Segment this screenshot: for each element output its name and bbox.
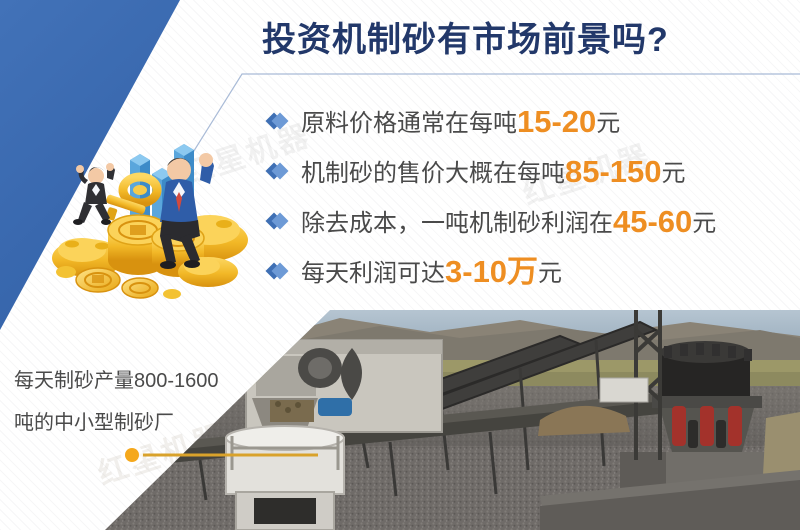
caption-connector [118, 444, 318, 466]
list-item: 除去成本，一吨机制砂利润在45-60元 [268, 196, 778, 246]
blue-diamond-icon [268, 113, 285, 130]
list-item-highlight: 3-10万 [445, 254, 538, 289]
list-item-prefix: 每天利润可达 [301, 260, 445, 287]
list-item-text: 机制砂的售价大概在每吨85-150元 [301, 156, 686, 187]
list-item: 原料价格通常在每吨15-20元 [268, 96, 778, 146]
list-item: 每天利润可达3-10万元 [268, 246, 778, 296]
list-item-text: 每天利润可达3-10万元 [301, 256, 562, 287]
list-item-text: 原料价格通常在每吨15-20元 [301, 106, 620, 137]
caption-block: 每天制砂产量800-1600 吨的中小型制砂厂 [14, 360, 274, 444]
list-item-prefix: 原料价格通常在每吨 [301, 110, 517, 137]
list-item-text: 除去成本，一吨机制砂利润在45-60元 [301, 206, 716, 237]
list-item-highlight: 85-150 [565, 154, 662, 189]
businessman-celebrating [73, 163, 115, 225]
list-item-suffix: 元 [692, 210, 716, 237]
list-item-highlight: 15-20 [517, 104, 596, 139]
list-item: 机制砂的售价大概在每吨85-150元 [268, 146, 778, 196]
blue-diamond-icon [268, 263, 285, 280]
list-item-suffix: 元 [538, 260, 562, 287]
list-item-prefix: 除去成本，一吨机制砂利润在 [301, 210, 613, 237]
benefit-list: 原料价格通常在每吨15-20元 机制砂的售价大概在每吨85-150元 除去成本，… [268, 96, 778, 296]
list-item-suffix: 元 [596, 110, 620, 137]
illustration-artwork [52, 122, 252, 302]
list-item-suffix: 元 [662, 160, 686, 187]
caption-line-2: 吨的中小型制砂厂 [14, 402, 274, 444]
list-item-highlight: 45-60 [613, 204, 692, 239]
blue-diamond-icon [268, 213, 285, 230]
blue-diamond-icon [268, 163, 285, 180]
page-title: 投资机制砂有市场前景吗? [262, 12, 782, 61]
poster-canvas: 红星机器 红星机器 红星机器 投资机制砂有市场前景吗? 原料价格通常在每吨15-… [0, 0, 800, 530]
caption-line-1: 每天制砂产量800-1600 [14, 360, 274, 402]
gold-coins-businessmen-growth-illustration [52, 122, 252, 302]
list-item-prefix: 机制砂的售价大概在每吨 [301, 160, 565, 187]
